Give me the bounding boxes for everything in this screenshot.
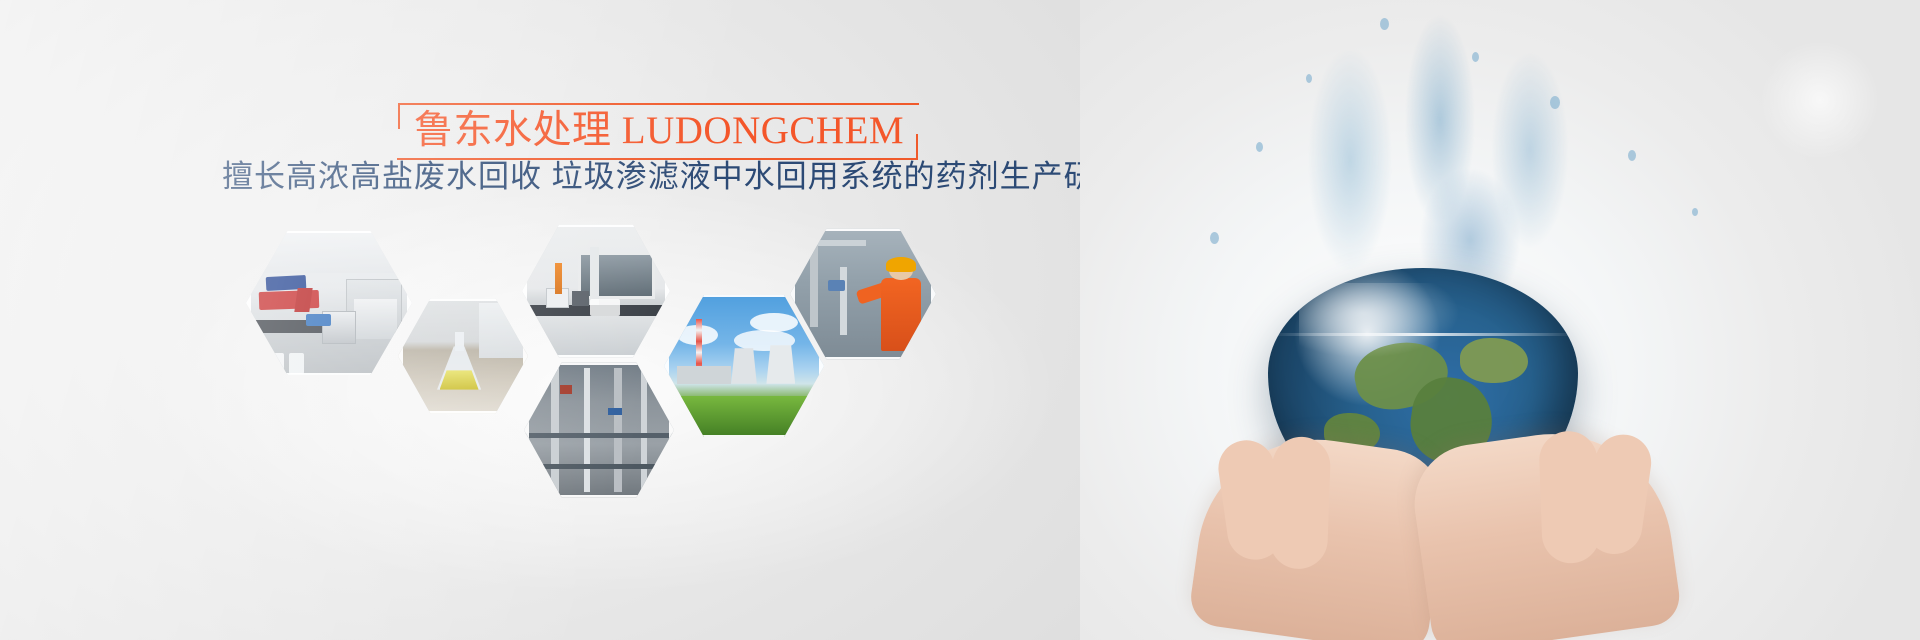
photo-lab-glassware [522, 222, 670, 360]
droplet-icon [1210, 232, 1219, 244]
hex-tile-flask [398, 296, 528, 416]
hex-tile-power-plant [664, 292, 824, 440]
droplet-icon [1550, 96, 1560, 109]
droplet-icon [1256, 142, 1263, 152]
hero-banner: 鲁东水处理 LUDONGCHEM 擅长高浓高盐废水回收 垃圾渗滤液中水回用系统的… [0, 0, 1920, 640]
water-globe-artwork [1080, 0, 1920, 640]
hex-tile-lab-glassware [522, 222, 670, 360]
brand-subtitle: 擅长高浓高盐废水回收 垃圾渗滤液中水回用系统的药剂生产研发 [222, 157, 1128, 197]
photo-worker [790, 226, 936, 362]
bracket-top-left-icon [398, 103, 422, 129]
hex-tile-piping [524, 360, 674, 500]
hand-right [1407, 419, 1683, 640]
droplet-icon [1472, 52, 1479, 62]
hex-tile-worker [790, 226, 936, 362]
droplet-icon [1692, 208, 1698, 216]
photo-piping [524, 360, 674, 500]
droplet-icon [1380, 18, 1389, 30]
hex-tile-lab-room [246, 228, 412, 378]
droplet-icon [1628, 150, 1636, 161]
photo-power-plant [664, 292, 824, 440]
photo-flask [398, 296, 528, 416]
title-rule-top [416, 103, 919, 105]
brand-title: 鲁东水处理 LUDONGCHEM [414, 107, 904, 154]
hand-left [1187, 424, 1452, 640]
droplet-icon [1306, 74, 1312, 83]
hands-holding-globe [1200, 400, 1670, 640]
photo-lab-room [246, 228, 412, 378]
brand-title-frame: 鲁东水处理 LUDONGCHEM [398, 103, 918, 160]
